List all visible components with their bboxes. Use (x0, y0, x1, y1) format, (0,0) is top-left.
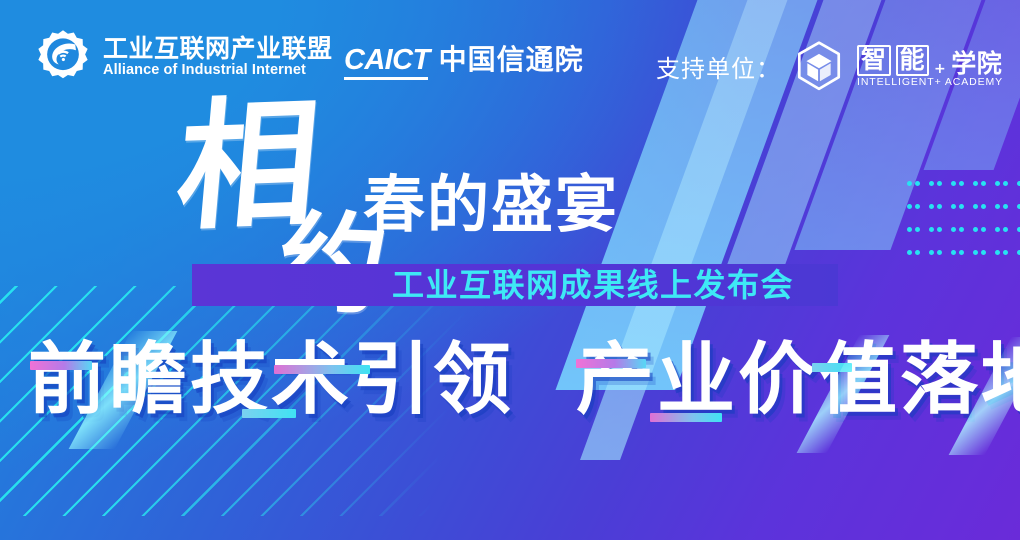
banner-header: 工业互联网产业联盟 Alliance of Industrial Interne… (0, 0, 1020, 105)
promotional-banner: 工业互联网产业联盟 Alliance of Industrial Interne… (0, 0, 1020, 540)
academy-plus-sign: + (934, 62, 946, 76)
alliance-name-cn: 工业互联网产业联盟 (103, 35, 333, 62)
support-unit-block: 支持单位： 智 能 + 学院 INTELLIGENT+ ACADEMY (656, 40, 1003, 92)
caict-logo: CAICT 中国信通院 (344, 38, 584, 78)
gear-wifi-icon (34, 28, 92, 86)
caict-abbr: CAICT (344, 44, 430, 76)
alliance-logo: 工业互联网产业联盟 Alliance of Industrial Interne… (34, 28, 333, 86)
dot-grid-decor (896, 172, 1020, 264)
slogan-row: 前瞻技术引领 产业价值落地 (28, 332, 996, 428)
support-unit-label: 支持单位： (656, 49, 781, 84)
subtitle-text: 工业互联网成果线上发布会 (392, 266, 794, 304)
academy-char-zhi: 智 (857, 45, 891, 76)
slogan-left-text: 前瞻技术引领 (28, 335, 514, 425)
diagonal-stripes-decor (0, 286, 580, 516)
slogan-right: 产业价值落地 (576, 341, 1020, 419)
caict-name-cn: 中国信通院 (439, 38, 584, 78)
academy-name-en: INTELLIGENT+ ACADEMY (857, 77, 1003, 88)
slogan-right-text: 产业价值落地 (576, 335, 1020, 425)
cube-icon (795, 40, 843, 92)
slogan-left: 前瞻技术引领 (28, 341, 514, 419)
calligraphy-title: 相 约 (172, 94, 319, 239)
page-title: 春的盛宴 (363, 174, 619, 236)
intelligent-academy-logo: 智 能 + 学院 INTELLIGENT+ ACADEMY (857, 45, 1003, 87)
alliance-name-en: Alliance of Industrial Internet (103, 63, 333, 79)
calligraphy-char-xiang: 相 (171, 82, 320, 251)
academy-word-xueyuan: 学院 (951, 51, 1002, 76)
caict-underline (344, 77, 428, 80)
academy-char-neng: 能 (896, 45, 930, 76)
